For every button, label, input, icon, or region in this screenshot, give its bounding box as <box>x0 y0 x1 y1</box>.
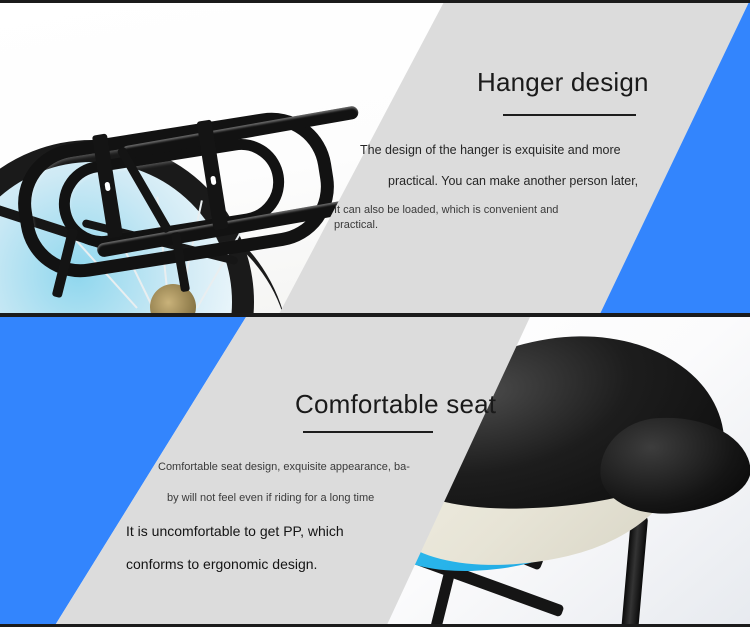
seat-lead-line-1: Comfortable seat design, exquisite appea… <box>158 461 410 473</box>
product-feature-banner: Hanger design The design of the hanger i… <box>0 0 750 627</box>
hanger-lead-paragraph: The design of the hanger is exquisite an… <box>360 135 650 197</box>
rack-mount-hole <box>104 182 110 192</box>
seat-lead-paragraph: Comfortable seat design, exquisite appea… <box>158 452 433 514</box>
rack-mount-hole <box>210 176 216 186</box>
hanger-lead-line-1: The design of the hanger is exquisite an… <box>360 143 621 157</box>
seat-lead-line-2: by will not feel even if riding for a lo… <box>158 483 433 514</box>
hanger-lead-line-2: practical. You can make another person l… <box>360 166 650 197</box>
seat-heading: Comfortable seat <box>295 389 496 420</box>
panel-divider-rule <box>0 313 750 317</box>
seat-heading-rule <box>303 431 433 433</box>
top-border-rule <box>0 0 750 3</box>
hanger-heading-rule <box>503 114 636 116</box>
hanger-note-paragraph: It can also be loaded, which is convenie… <box>334 203 579 233</box>
seat-strong-line-1: It is uncomfortable to get PP, which <box>126 523 344 539</box>
seat-strong-line-2: conforms to ergonomic design. <box>126 548 386 581</box>
hanger-heading: Hanger design <box>477 67 649 98</box>
seat-strong-paragraph: It is uncomfortable to get PP, which con… <box>126 515 386 581</box>
panel-hanger-design: Hanger design The design of the hanger i… <box>0 0 750 314</box>
